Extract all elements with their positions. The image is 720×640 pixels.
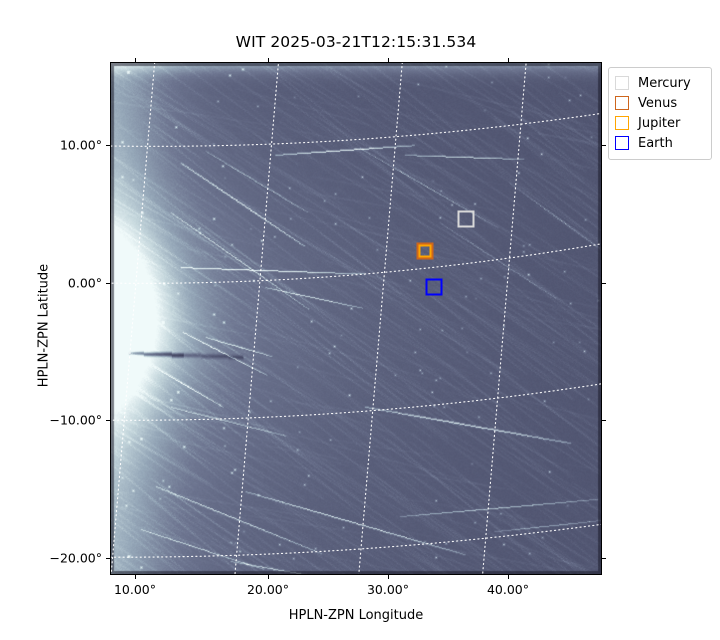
legend-item-jupiter[interactable]: Jupiter — [615, 113, 705, 133]
legend-label: Mercury — [638, 76, 691, 91]
legend-label: Jupiter — [638, 116, 680, 131]
legend-item-venus[interactable]: Venus — [615, 93, 705, 113]
legend-label: Earth — [638, 136, 673, 151]
legend-swatch-icon — [615, 136, 629, 150]
legend-label: Venus — [638, 96, 677, 111]
figure-canvas: WIT 2025-03-21T12:15:31.534 10.00°20.00°… — [0, 0, 720, 640]
y-axis-label: HPLN-ZPN Latitude — [37, 206, 52, 446]
y-tick-mark — [106, 558, 110, 559]
y-tick-mark-right — [602, 420, 606, 421]
sky-image-axes[interactable] — [110, 62, 602, 575]
y-tick-mark-right — [602, 283, 606, 284]
legend[interactable]: MercuryVenusJupiterEarth — [608, 67, 712, 160]
x-tick-mark — [508, 575, 509, 579]
x-tick-mark-top — [135, 58, 136, 62]
legend-item-mercury[interactable]: Mercury — [615, 73, 705, 93]
y-tick-mark — [106, 145, 110, 146]
y-tick-mark-right — [602, 558, 606, 559]
x-tick-mark — [268, 575, 269, 579]
x-tick-label: 10.00° — [114, 582, 156, 597]
y-tick-label: 10.00° — [0, 138, 102, 153]
y-tick-mark — [106, 420, 110, 421]
x-tick-label: 40.00° — [487, 582, 529, 597]
x-axis-label: HPLN-ZPN Longitude — [110, 608, 602, 623]
y-tick-mark-right — [602, 145, 606, 146]
x-tick-label: 30.00° — [367, 582, 409, 597]
x-tick-label: 20.00° — [247, 582, 289, 597]
page-title: WIT 2025-03-21T12:15:31.534 — [110, 33, 602, 51]
x-tick-mark — [135, 575, 136, 579]
legend-swatch-icon — [615, 96, 629, 110]
x-tick-mark — [388, 575, 389, 579]
y-tick-label: −20.00° — [0, 551, 102, 566]
x-tick-mark-top — [268, 58, 269, 62]
legend-item-earth[interactable]: Earth — [615, 133, 705, 153]
legend-swatch-icon — [615, 76, 629, 90]
legend-swatch-icon — [615, 116, 629, 130]
x-tick-mark-top — [508, 58, 509, 62]
y-tick-mark — [106, 283, 110, 284]
x-tick-mark-top — [388, 58, 389, 62]
heliospheric-image — [111, 63, 601, 574]
